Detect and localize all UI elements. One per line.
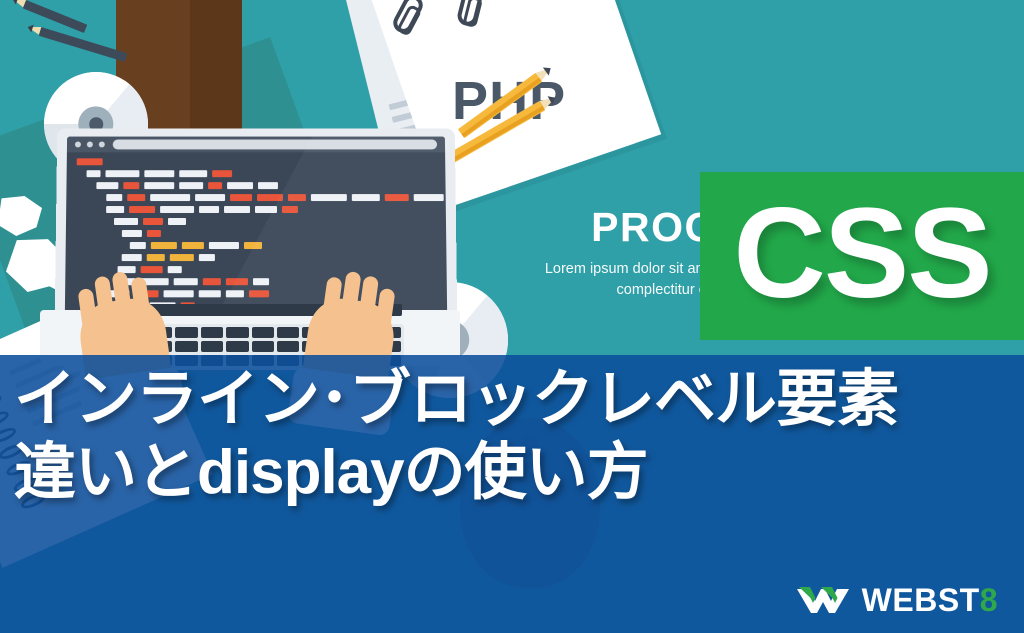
logo-text-webst: WEBST bbox=[862, 582, 980, 618]
webst8-wordmark: WEBST8 bbox=[862, 584, 998, 616]
css-badge-label: CSS bbox=[733, 190, 990, 318]
webst8-mark-icon bbox=[795, 583, 851, 617]
title-line-1: インライン･ブロックレベル要素 bbox=[14, 363, 1010, 436]
banner-title: インライン･ブロックレベル要素 違いとdisplayの使い方 bbox=[0, 363, 1024, 509]
brown-object-shade bbox=[190, 0, 242, 140]
logo-text-8: 8 bbox=[980, 582, 998, 618]
banner-canvas: PHP bbox=[0, 0, 1024, 633]
css-badge: CSS bbox=[700, 172, 1024, 340]
webst8-logo[interactable]: WEBST8 bbox=[795, 583, 998, 617]
title-line-2: 違いとdisplayの使い方 bbox=[14, 436, 1010, 509]
